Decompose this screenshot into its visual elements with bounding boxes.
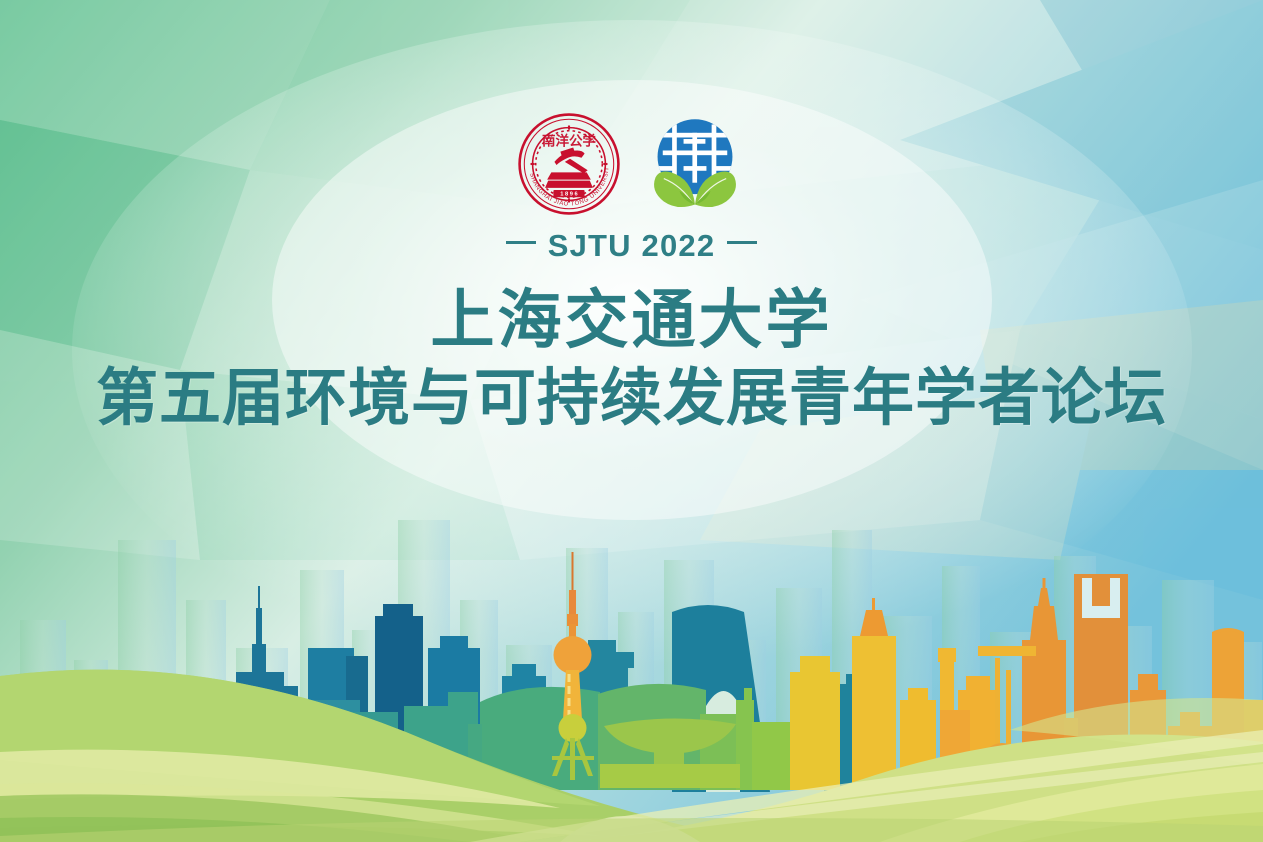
event-tag-text: SJTU 2022 bbox=[548, 228, 716, 264]
tag-dash-left bbox=[506, 241, 536, 244]
sjtu-seal-logo: 1 8 9 6 SHANGHAI JIAO TONG UNIVERSITY 南洋… bbox=[517, 112, 621, 216]
ese-emblem-logo bbox=[643, 112, 747, 216]
title-line-2: 第五届环境与可持续发展青年学者论坛 bbox=[0, 358, 1263, 438]
svg-text:1 8 9 6: 1 8 9 6 bbox=[560, 192, 578, 198]
poster-canvas: 1 8 9 6 SHANGHAI JIAO TONG UNIVERSITY 南洋… bbox=[0, 0, 1263, 842]
title-block: 上海交通大学 第五届环境与可持续发展青年学者论坛 bbox=[0, 284, 1263, 438]
logo-row: 1 8 9 6 SHANGHAI JIAO TONG UNIVERSITY 南洋… bbox=[0, 112, 1263, 216]
title-line-1: 上海交通大学 bbox=[0, 284, 1263, 358]
event-tag: SJTU 2022 bbox=[0, 226, 1263, 264]
svg-text:南洋公学: 南洋公学 bbox=[541, 132, 596, 149]
tag-dash-right bbox=[727, 241, 757, 244]
